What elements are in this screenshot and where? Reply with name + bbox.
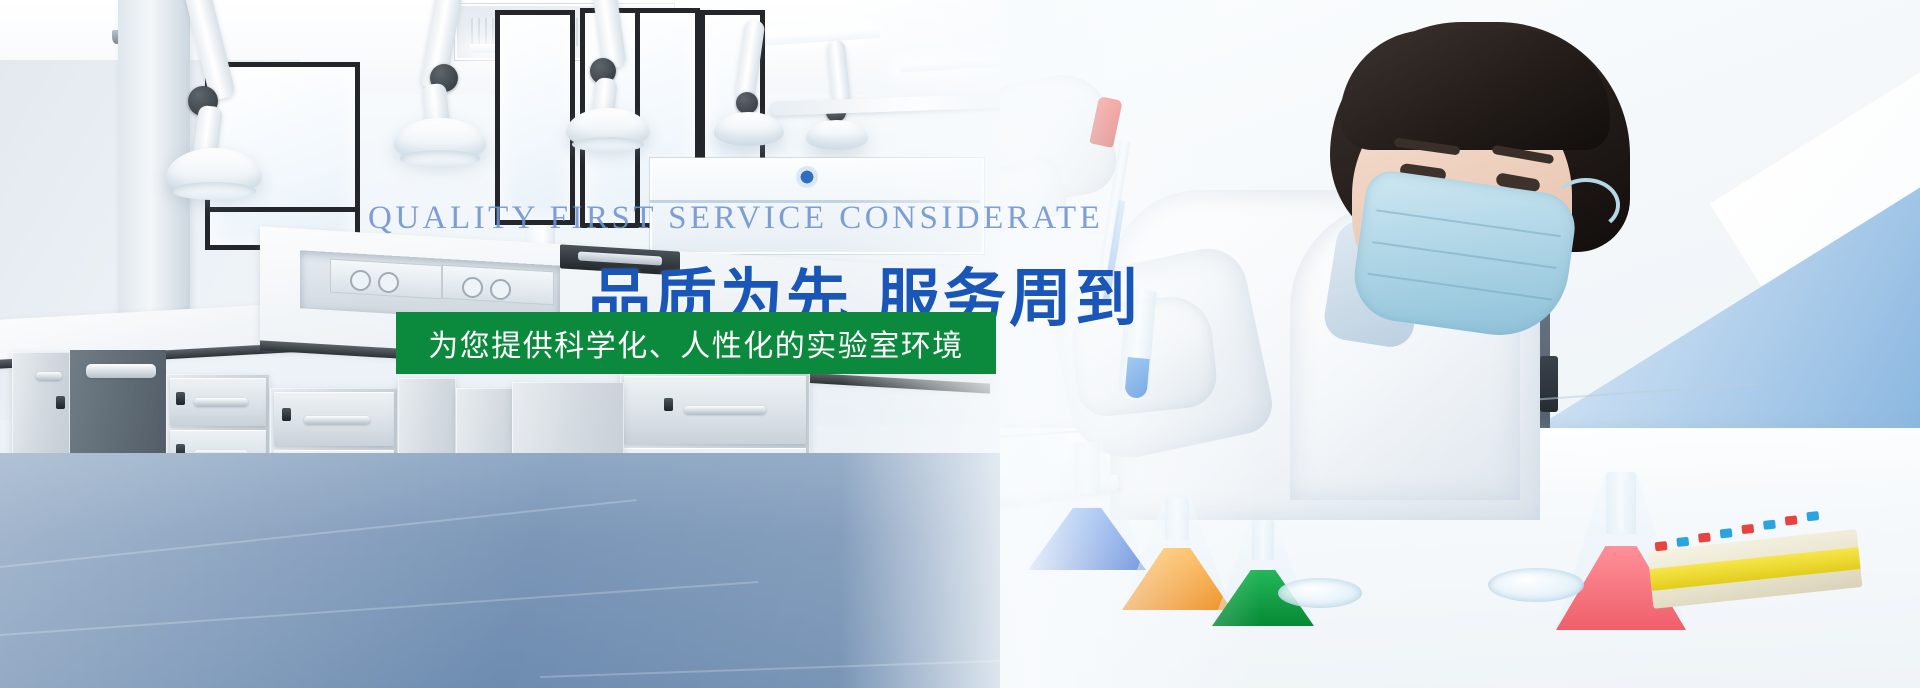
tube-cap-icon xyxy=(1806,511,1819,521)
drawer-lock-icon xyxy=(664,398,673,411)
waste-unit-handle xyxy=(86,364,156,378)
arm-joint xyxy=(736,92,758,114)
petri-dish xyxy=(1488,568,1584,602)
subtitle-green-bar: 为您提供科学化、人性化的实验室环境 xyxy=(396,312,996,374)
mask-ear-loop xyxy=(1552,178,1620,232)
tube-cap-icon xyxy=(1763,520,1776,530)
back-shelf-line xyxy=(650,200,980,203)
drawer-handle xyxy=(194,398,248,406)
drawer-handle xyxy=(304,416,370,424)
lab-lamp xyxy=(714,112,784,146)
blue-surgical-mask xyxy=(1349,168,1580,344)
tube-cap-icon xyxy=(1698,533,1711,543)
chinese-subtitle: 为您提供科学化、人性化的实验室环境 xyxy=(428,321,964,365)
tube-cap-icon xyxy=(1720,528,1733,538)
shelf-logo-icon xyxy=(796,166,818,188)
hair-fringe xyxy=(1340,30,1610,150)
green-flask xyxy=(1212,520,1314,626)
tube-cap-icon xyxy=(1741,524,1754,534)
drawer-lock-icon xyxy=(282,408,291,421)
drawer-lock-icon xyxy=(176,392,185,405)
lab-lamp xyxy=(806,120,868,150)
petri-dish xyxy=(1278,578,1362,608)
cabinet-lock-icon xyxy=(56,396,65,409)
sink-knob-icon xyxy=(350,270,371,291)
hero-banner: QUALITY FIRST SERVICE CONSIDERATE 品质为先 服… xyxy=(0,0,1920,688)
lamp-rim xyxy=(172,182,256,200)
tube-cap-icon xyxy=(1785,515,1798,525)
tube-cap-icon xyxy=(1655,541,1668,551)
drawer-handle xyxy=(684,406,766,414)
chair-armrest xyxy=(1540,356,1558,412)
lamp-rim xyxy=(400,150,480,167)
cabinet-handle xyxy=(36,372,62,380)
tube-cap-icon xyxy=(1676,537,1689,547)
lab-technician-photo xyxy=(1000,0,1920,688)
lamp-rim xyxy=(572,137,644,152)
sink-knob-icon xyxy=(378,272,399,293)
sink-knob-icon xyxy=(462,277,483,298)
sink-knob-icon xyxy=(490,279,511,300)
window xyxy=(495,10,575,225)
rack-yellow-tray xyxy=(1649,547,1860,591)
